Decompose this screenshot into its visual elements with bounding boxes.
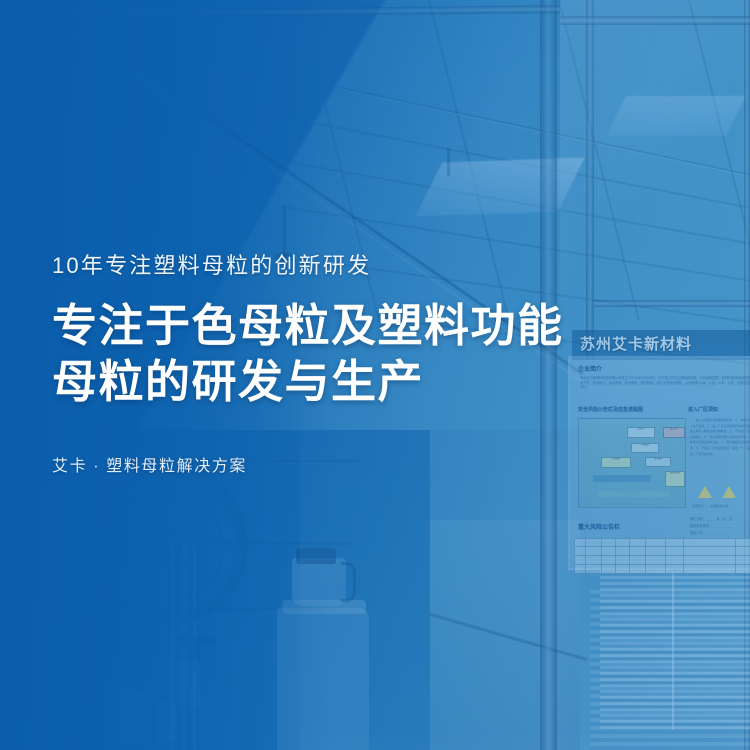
hero-eyebrow: 10年专注塑料母粒的创新研发 (52, 248, 672, 280)
hero-headline-line-2: 母粒的研发与生产 (52, 354, 672, 410)
hero-copy-block: 10年专注塑料母粒的创新研发 专注于色母粒及塑料功能 母粒的研发与生产 艾卡 ·… (52, 248, 672, 476)
hero-tagline: 艾卡 · 塑料母粒解决方案 (52, 452, 672, 476)
hero-headline-line-1: 专注于色母粒及塑料功能 (52, 298, 672, 354)
hero-banner: 苏州艾卡新材料 企业简介 苏州艾卡新材料科技有限公司成立于2019年09月26日… (0, 0, 750, 750)
hero-headline: 专注于色母粒及塑料功能 母粒的研发与生产 (52, 298, 672, 410)
